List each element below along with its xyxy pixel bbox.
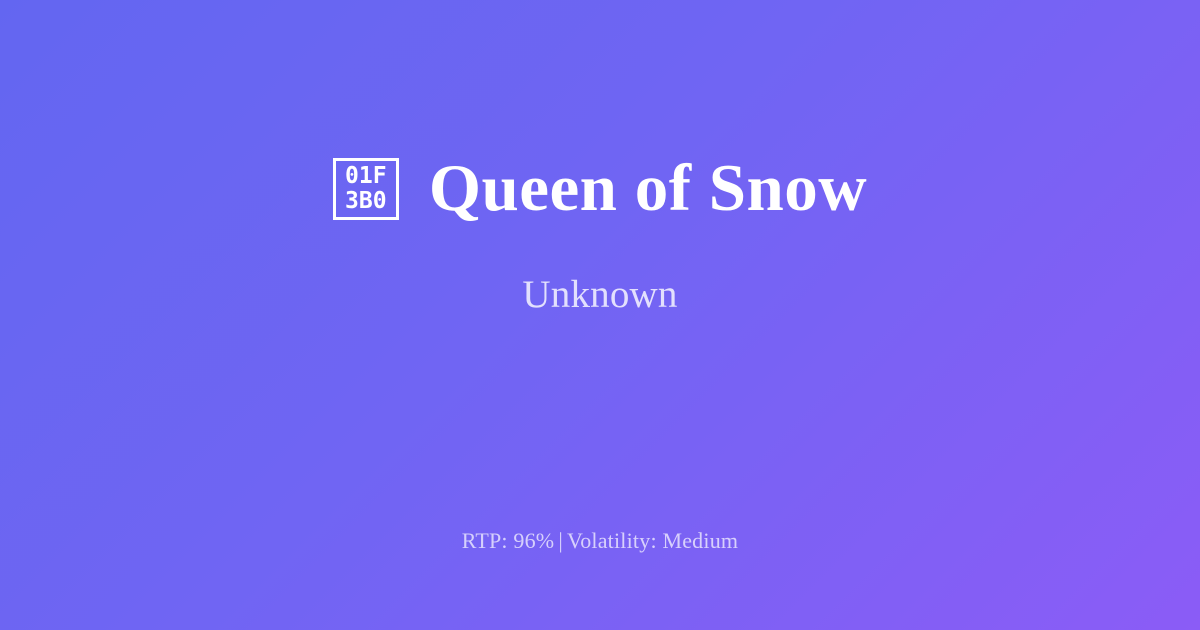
rtp-value: RTP: 96% [462,528,555,553]
tofu-codepoint-top: 01F [345,164,387,189]
volatility-value: Volatility: Medium [567,528,738,553]
title-row: 01F 3B0 Queen of Snow [333,153,867,224]
hero-section: 01F 3B0 Queen of Snow Unknown [0,0,1200,470]
meta-separator: | [554,528,567,553]
tofu-codepoint-bottom: 3B0 [345,189,387,214]
game-provider-subtitle: Unknown [522,274,677,317]
game-meta-footer: RTP: 96%|Volatility: Medium [0,528,1200,554]
page-title: Queen of Snow [429,153,867,224]
slot-machine-icon: 01F 3B0 [333,158,399,220]
og-share-card: 01F 3B0 Queen of Snow Unknown RTP: 96%|V… [0,0,1200,630]
